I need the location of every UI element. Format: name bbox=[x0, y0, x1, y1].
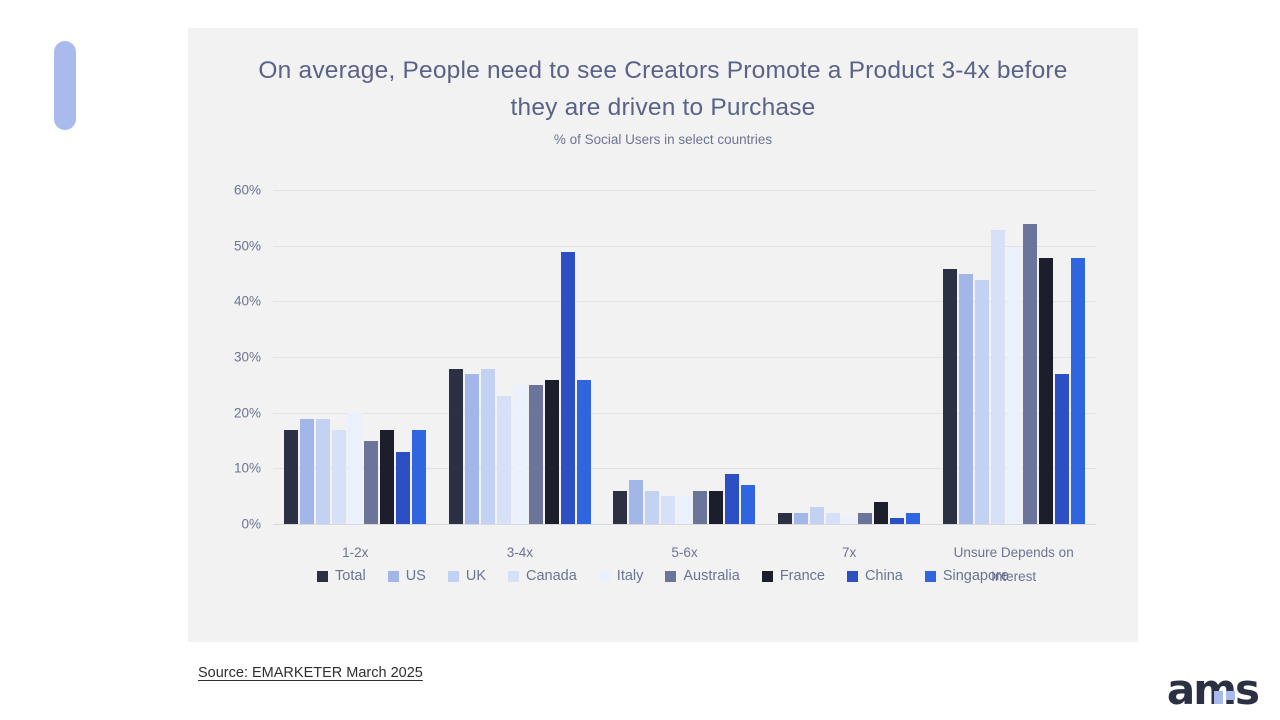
legend-swatch bbox=[317, 571, 328, 582]
y-axis-tick-label: 30% bbox=[234, 350, 261, 365]
legend-swatch bbox=[388, 571, 399, 582]
bar[interactable] bbox=[741, 485, 755, 524]
bar[interactable] bbox=[842, 518, 856, 524]
bar[interactable] bbox=[959, 274, 973, 524]
y-axis-tick-label: 60% bbox=[234, 183, 261, 198]
bar[interactable] bbox=[380, 430, 394, 524]
bar[interactable] bbox=[645, 491, 659, 524]
y-axis-tick-label: 40% bbox=[234, 294, 261, 309]
bar[interactable] bbox=[481, 369, 495, 524]
chart-title: On average, People need to see Creators … bbox=[188, 28, 1138, 126]
bar[interactable] bbox=[874, 502, 888, 524]
bar[interactable] bbox=[709, 491, 723, 524]
bar[interactable] bbox=[794, 513, 808, 524]
bar[interactable] bbox=[497, 396, 511, 524]
bar[interactable] bbox=[858, 513, 872, 524]
bar-group: 7x bbox=[778, 191, 920, 524]
legend-swatch bbox=[847, 571, 858, 582]
legend-label: Canada bbox=[526, 568, 577, 584]
legend-swatch bbox=[762, 571, 773, 582]
bar[interactable] bbox=[300, 419, 314, 524]
bar[interactable] bbox=[991, 230, 1005, 524]
bar[interactable] bbox=[613, 491, 627, 524]
bar[interactable] bbox=[661, 496, 675, 524]
x-axis-category-label: 7x bbox=[842, 541, 856, 565]
x-axis-category-label: 1-2x bbox=[342, 541, 368, 565]
legend-label: Singapore bbox=[943, 568, 1009, 584]
bar[interactable] bbox=[577, 380, 591, 524]
bar-group: 3-4x bbox=[449, 191, 591, 524]
bar[interactable] bbox=[810, 507, 824, 524]
bar[interactable] bbox=[1039, 258, 1053, 524]
bar[interactable] bbox=[629, 480, 643, 524]
legend-swatch bbox=[665, 571, 676, 582]
bar[interactable] bbox=[1007, 247, 1021, 525]
bar[interactable] bbox=[693, 491, 707, 524]
legend-item[interactable]: UK bbox=[448, 568, 486, 584]
x-axis-category-label: 3-4x bbox=[507, 541, 533, 565]
logo-accent-squares bbox=[1214, 691, 1235, 704]
legend-label: Italy bbox=[617, 568, 644, 584]
legend-item[interactable]: Italy bbox=[599, 568, 644, 584]
legend-label: UK bbox=[466, 568, 486, 584]
bar[interactable] bbox=[513, 385, 527, 524]
legend-item[interactable]: France bbox=[762, 568, 825, 584]
logo-square bbox=[1226, 691, 1235, 700]
ams-logo: ams bbox=[1167, 668, 1258, 708]
legend-label: Australia bbox=[683, 568, 739, 584]
bar-group: 5-6x bbox=[613, 191, 755, 524]
legend-item[interactable]: Singapore bbox=[925, 568, 1009, 584]
legend-swatch bbox=[508, 571, 519, 582]
bar[interactable] bbox=[561, 252, 575, 524]
legend-swatch bbox=[925, 571, 936, 582]
logo-wordmark: ams bbox=[1167, 672, 1258, 708]
bar-groups: 1-2x3-4x5-6x7xUnsure Depends on Interest bbox=[273, 191, 1096, 524]
y-axis-tick-label: 0% bbox=[241, 517, 261, 532]
bar[interactable] bbox=[778, 513, 792, 524]
y-axis-tick-label: 50% bbox=[234, 238, 261, 253]
chart-subtitle: % of Social Users in select countries bbox=[188, 132, 1138, 147]
bar[interactable] bbox=[449, 369, 463, 524]
chart-legend: TotalUSUKCanadaItalyAustraliaFranceChina… bbox=[188, 568, 1138, 584]
y-axis-tick-label: 20% bbox=[234, 405, 261, 420]
bar[interactable] bbox=[545, 380, 559, 524]
legend-item[interactable]: Total bbox=[317, 568, 366, 584]
legend-item[interactable]: US bbox=[388, 568, 426, 584]
bar[interactable] bbox=[316, 419, 330, 524]
y-axis-tick-label: 10% bbox=[234, 461, 261, 476]
legend-label: US bbox=[406, 568, 426, 584]
bar[interactable] bbox=[465, 374, 479, 524]
chart-card: On average, People need to see Creators … bbox=[188, 28, 1138, 642]
legend-item[interactable]: China bbox=[847, 568, 903, 584]
plot-area: 0%10%20%30%40%50%60% 1-2x3-4x5-6x7xUnsur… bbox=[188, 156, 1138, 586]
bar[interactable] bbox=[529, 385, 543, 524]
decorative-pill bbox=[54, 41, 76, 130]
bar[interactable] bbox=[284, 430, 298, 524]
legend-label: France bbox=[780, 568, 825, 584]
bar[interactable] bbox=[348, 413, 362, 524]
bar[interactable] bbox=[1055, 374, 1069, 524]
bar[interactable] bbox=[1071, 258, 1085, 524]
bar[interactable] bbox=[677, 496, 691, 524]
bar[interactable] bbox=[975, 280, 989, 524]
source-note: Source: EMARKETER March 2025 bbox=[198, 665, 423, 681]
plot-canvas: 0%10%20%30%40%50%60% 1-2x3-4x5-6x7xUnsur… bbox=[273, 191, 1096, 525]
bar[interactable] bbox=[826, 513, 840, 524]
bar[interactable] bbox=[906, 513, 920, 524]
bar-group: Unsure Depends on Interest bbox=[943, 191, 1085, 524]
x-axis-category-label: 5-6x bbox=[671, 541, 697, 565]
bar[interactable] bbox=[332, 430, 346, 524]
legend-label: China bbox=[865, 568, 903, 584]
axis-baseline bbox=[273, 524, 1096, 525]
bar[interactable] bbox=[890, 518, 904, 524]
bar[interactable] bbox=[1023, 224, 1037, 524]
legend-item[interactable]: Canada bbox=[508, 568, 577, 584]
legend-item[interactable]: Australia bbox=[665, 568, 739, 584]
bar[interactable] bbox=[364, 441, 378, 524]
bar[interactable] bbox=[412, 430, 426, 524]
legend-swatch bbox=[599, 571, 610, 582]
legend-swatch bbox=[448, 571, 459, 582]
bar[interactable] bbox=[943, 269, 957, 524]
bar[interactable] bbox=[396, 452, 410, 524]
legend-label: Total bbox=[335, 568, 366, 584]
bar-group: 1-2x bbox=[284, 191, 426, 524]
logo-square bbox=[1214, 691, 1223, 704]
bar[interactable] bbox=[725, 474, 739, 524]
